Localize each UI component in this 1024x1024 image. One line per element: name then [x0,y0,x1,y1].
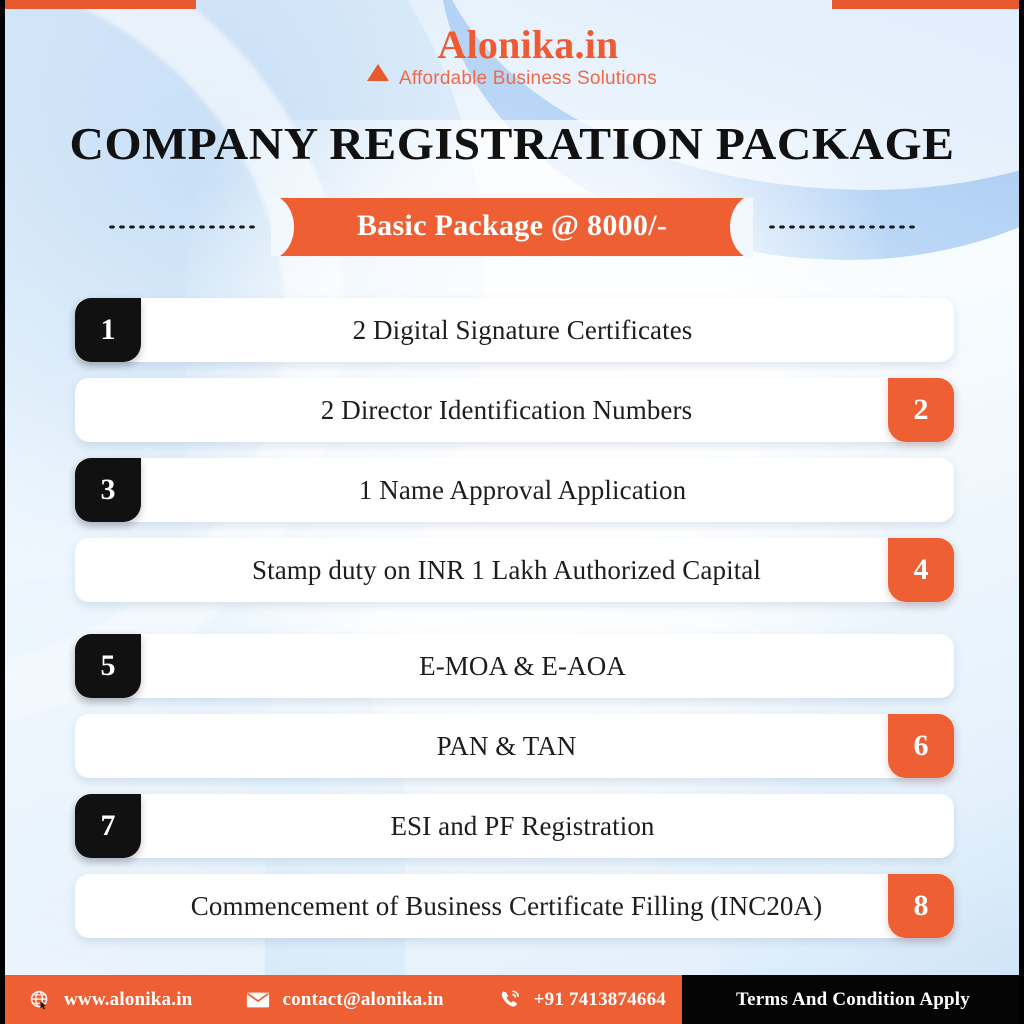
brand-tagline: Affordable Business Solutions [399,68,657,90]
page-title: COMPANY REGISTRATION PACKAGE [0,118,1024,170]
footer-website-label: www.alonika.in [64,989,192,1011]
dotted-line-right [767,224,917,230]
package-item-row: 4Stamp duty on INR 1 Lakh Authorized Cap… [75,538,954,602]
footer-email[interactable]: contact@alonika.in [246,988,443,1012]
package-item-label: Commencement of Business Certificate Fil… [75,874,954,938]
footer-email-label: contact@alonika.in [282,989,443,1011]
dotted-line-left [107,224,257,230]
package-item-label: 2 Director Identification Numbers [75,378,954,442]
package-item-row: 31 Name Approval Application [75,458,954,522]
package-item-row: 5E-MOA & E-AOA [75,634,954,698]
phone-icon [498,988,522,1012]
package-ribbon-label: Basic Package @ 8000/- [271,198,753,257]
brand-logo: Alonika.in Affordable Business Solutions [5,24,1019,90]
footer-phone-label: +91 7413874664 [534,989,666,1011]
package-item-label: 1 Name Approval Application [75,458,954,522]
package-items-list: 12 Digital Signature Certificates22 Dire… [75,298,954,954]
package-banner: Basic Package @ 8000/- [5,196,1019,258]
footer-contact-strip: www.alonika.in contact@alonika.in [0,975,682,1024]
poster-canvas: Alonika.in Affordable Business Solutions… [0,0,1024,1024]
triangle-icon [367,64,389,81]
package-item-row: 6PAN & TAN [75,714,954,778]
top-accent-bar-left [0,0,196,9]
footer-bar: www.alonika.in contact@alonika.in [0,975,1024,1024]
globe-icon [28,988,52,1012]
package-item-label: Stamp duty on INR 1 Lakh Authorized Capi… [75,538,954,602]
package-item-label: E-MOA & E-AOA [75,634,954,698]
package-item-row: 7ESI and PF Registration [75,794,954,858]
package-item-label: PAN & TAN [75,714,954,778]
footer-phone[interactable]: +91 7413874664 [498,988,666,1012]
footer-terms: Terms And Condition Apply [682,975,1024,1024]
footer-website[interactable]: www.alonika.in [28,988,192,1012]
package-item-row: 8Commencement of Business Certificate Fi… [75,874,954,938]
top-accent-bar-right [832,0,1024,9]
package-item-label: 2 Digital Signature Certificates [75,298,954,362]
package-item-row: 12 Digital Signature Certificates [75,298,954,362]
envelope-icon [246,988,270,1012]
package-item-label: ESI and PF Registration [75,794,954,858]
brand-name: Alonika.in [399,24,657,66]
package-item-row: 22 Director Identification Numbers [75,378,954,442]
